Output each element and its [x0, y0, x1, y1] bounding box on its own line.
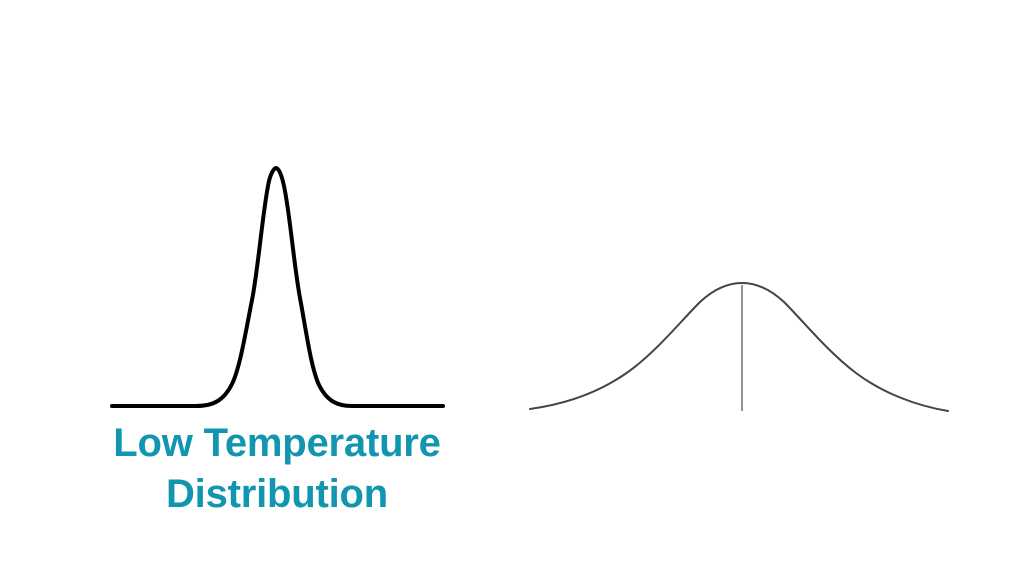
high-temperature-panel: High Temperature Distribution [512, 0, 1024, 576]
low-temperature-caption: Low Temperature Distribution [57, 418, 497, 520]
low-temperature-caption-line-2: Distribution [57, 469, 497, 520]
low-temperature-panel: Low Temperature Distribution [0, 0, 512, 576]
low-temperature-caption-line-1: Low Temperature [57, 418, 497, 469]
illustration-canvas: Low Temperature Distribution High Temper… [0, 0, 1024, 576]
